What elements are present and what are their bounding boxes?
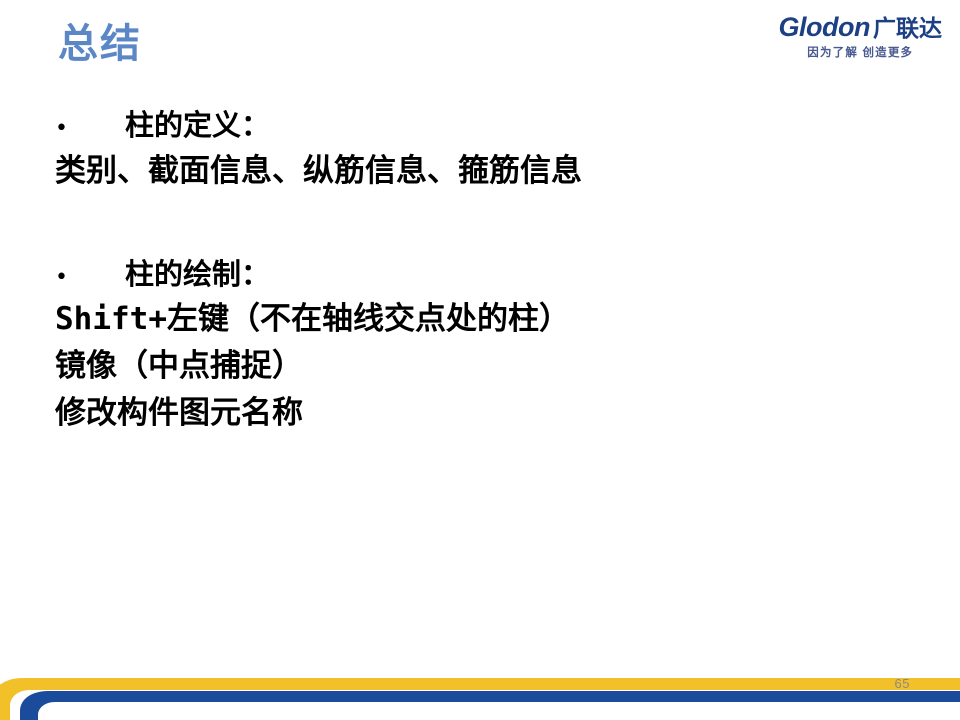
- logo-wordmark: Glodon广联达: [779, 14, 942, 41]
- bullet-dot-icon: •: [55, 267, 65, 289]
- bullet-heading-row: • 柱的绘制：: [55, 253, 915, 297]
- content-line: 镜像（中点捕捉）: [55, 343, 915, 390]
- bullet-heading-text: 柱的定义：: [125, 104, 270, 148]
- page-title: 总结: [58, 22, 142, 66]
- company-logo: Glodon广联达 因为了解 创造更多: [779, 14, 942, 60]
- page-number: 65: [895, 676, 910, 691]
- bullet-heading-row: • 柱的定义：: [55, 104, 915, 148]
- content-line: 修改构件图元名称: [55, 390, 915, 437]
- content-line: Shift+左键（不在轴线交点处的柱）: [55, 296, 915, 343]
- logo-wordmark-latin: Glodon: [779, 12, 870, 42]
- slide-body: • 柱的定义： 类别、截面信息、纵筋信息、箍筋信息 • 柱的绘制： Shift+…: [55, 104, 915, 437]
- content-block: • 柱的绘制： Shift+左键（不在轴线交点处的柱） 镜像（中点捕捉） 修改构…: [55, 253, 915, 438]
- bullet-heading-text: 柱的绘制：: [125, 253, 270, 297]
- footer-decoration: [0, 645, 960, 720]
- bullet-dot-icon: •: [55, 118, 65, 140]
- slide-canvas: Glodon广联达 因为了解 创造更多 总结 • 柱的定义： 类别、截面信息、纵…: [0, 0, 960, 720]
- logo-tagline: 因为了解 创造更多: [779, 48, 942, 60]
- yellow-stripe: [0, 678, 960, 720]
- content-line: 类别、截面信息、纵筋信息、箍筋信息: [55, 148, 915, 195]
- blue-stripe: [20, 691, 960, 720]
- logo-wordmark-chinese: 广联达: [873, 15, 942, 41]
- content-block: • 柱的定义： 类别、截面信息、纵筋信息、箍筋信息: [55, 104, 915, 195]
